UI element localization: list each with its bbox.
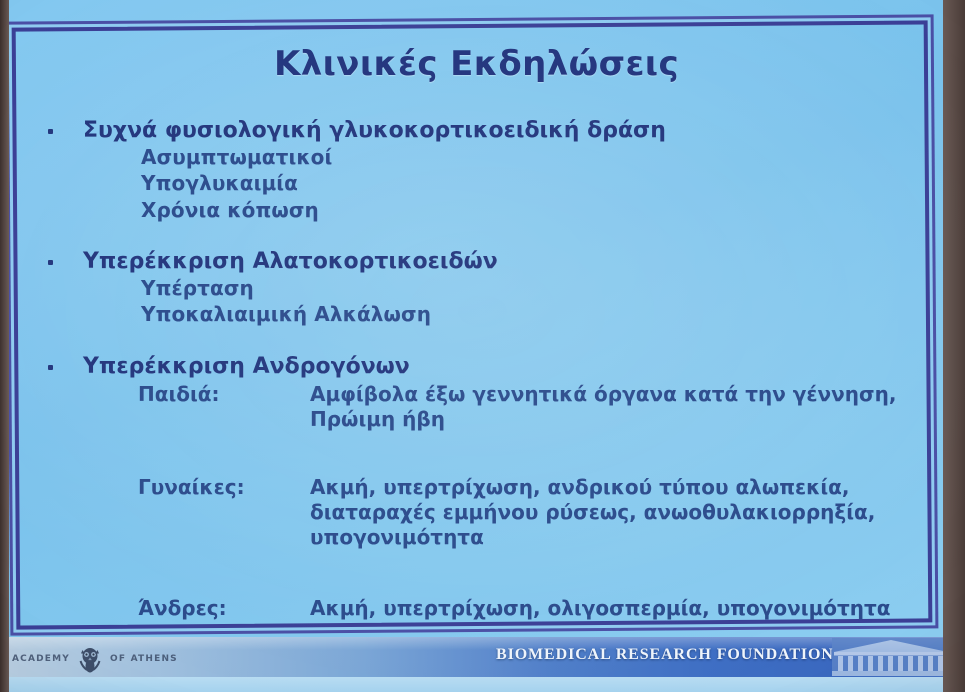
academy-label-left: ACADEMY — [12, 654, 70, 664]
definition-value-line: Πρώιμη ήβη — [310, 407, 948, 432]
bullet-heading: Υπερέκκριση Αλατοκορτικοειδών — [5, 249, 948, 275]
definition-row-women: Γυναίκες: Ακμή, υπερτρίχωση, ανδρικού τύ… — [5, 475, 948, 549]
bullet-heading-text: Υπερέκκριση Αλατοκορτικοειδών — [83, 249, 498, 274]
slide-title: Κλινικές Εκδηλώσεις — [5, 44, 948, 84]
square-bullet-icon — [48, 129, 53, 134]
slide-canvas: Κλινικές Εκδηλώσεις Συχνά φυσιολογική γλ… — [5, 0, 948, 637]
projected-slide-photo: Κλινικές Εκδηλώσεις Συχνά φυσιολογική γλ… — [0, 0, 965, 692]
definition-row-men: Άνδρες: Ακμή, υπερτρίχωση, ολιγοσπερμία,… — [5, 596, 948, 622]
wall-right-edge — [943, 0, 965, 692]
wall-left-edge — [0, 0, 9, 692]
definition-row-children: Παιδιά: Αμφίβολα έξω γεννητικά όργανα κα… — [5, 382, 948, 432]
neoclassical-building-icon — [832, 638, 950, 676]
definition-value-line: διαταραχές εμμήνου ρύσεως, ανωοθυλακιορρ… — [310, 500, 948, 525]
definition-label: Άνδρες: — [138, 596, 308, 622]
bullet-heading: Υπερέκκριση Ανδρογόνων — [5, 354, 948, 380]
owl-emblem-icon — [77, 645, 103, 673]
foundation-name: BIOMEDICAL RESEARCH FOUNDATION — [496, 646, 834, 664]
definition-label: Παιδιά: — [138, 382, 308, 408]
definition-value-line: Ακμή, υπερτρίχωση, ολιγοσπερμία, υπογονι… — [310, 596, 948, 621]
bullet-heading: Συχνά φυσιολογική γλυκοκορτικοειδική δρά… — [5, 118, 948, 144]
definition-value-line: Αμφίβολα έξω γεννητικά όργανα κατά την γ… — [310, 382, 948, 407]
academy-of-athens-logo: ACADEMY OF ATHENS — [12, 645, 178, 673]
square-bullet-icon — [48, 260, 53, 265]
sub-item: Υπογλυκαιμία — [5, 170, 948, 196]
sub-item: Ασυμπτωματικοί — [5, 144, 948, 170]
definition-value-line: Ακμή, υπερτρίχωση, ανδρικού τύπου αλωπεκ… — [310, 475, 948, 500]
slide-body: Συχνά φυσιολογική γλυκοκορτικοειδική δρά… — [5, 118, 948, 637]
screen-bottom-edge — [4, 677, 952, 692]
bullet-block-glucocorticoid: Συχνά φυσιολογική γλυκοκορτικοειδική δρά… — [5, 118, 948, 223]
definition-value-line: υπογονιμότητα — [310, 525, 948, 550]
bullet-block-androgen: Υπερέκκριση Ανδρογόνων Παιδιά: Αμφίβολα … — [5, 354, 948, 622]
sub-item: Χρόνια κόπωση — [5, 197, 948, 223]
bullet-heading-text: Υπερέκκριση Ανδρογόνων — [83, 354, 410, 379]
bullet-heading-text: Συχνά φυσιολογική γλυκοκορτικοειδική δρά… — [83, 118, 666, 143]
definition-label: Γυναίκες: — [138, 475, 308, 501]
footer-banner: ACADEMY OF ATHENS BIOMEDICAL RESEARCH FO… — [4, 637, 952, 677]
bullet-block-mineralocorticoid: Υπερέκκριση Αλατοκορτικοειδών Υπέρταση Υ… — [5, 249, 948, 328]
sub-item: Υποκαλιαιμική Αλκάλωση — [5, 301, 948, 327]
sub-item: Υπέρταση — [5, 275, 948, 301]
academy-label-right: OF ATHENS — [110, 654, 178, 664]
square-bullet-icon — [48, 365, 53, 370]
slide-content: Κλινικές Εκδηλώσεις Συχνά φυσιολογική γλ… — [5, 0, 948, 637]
